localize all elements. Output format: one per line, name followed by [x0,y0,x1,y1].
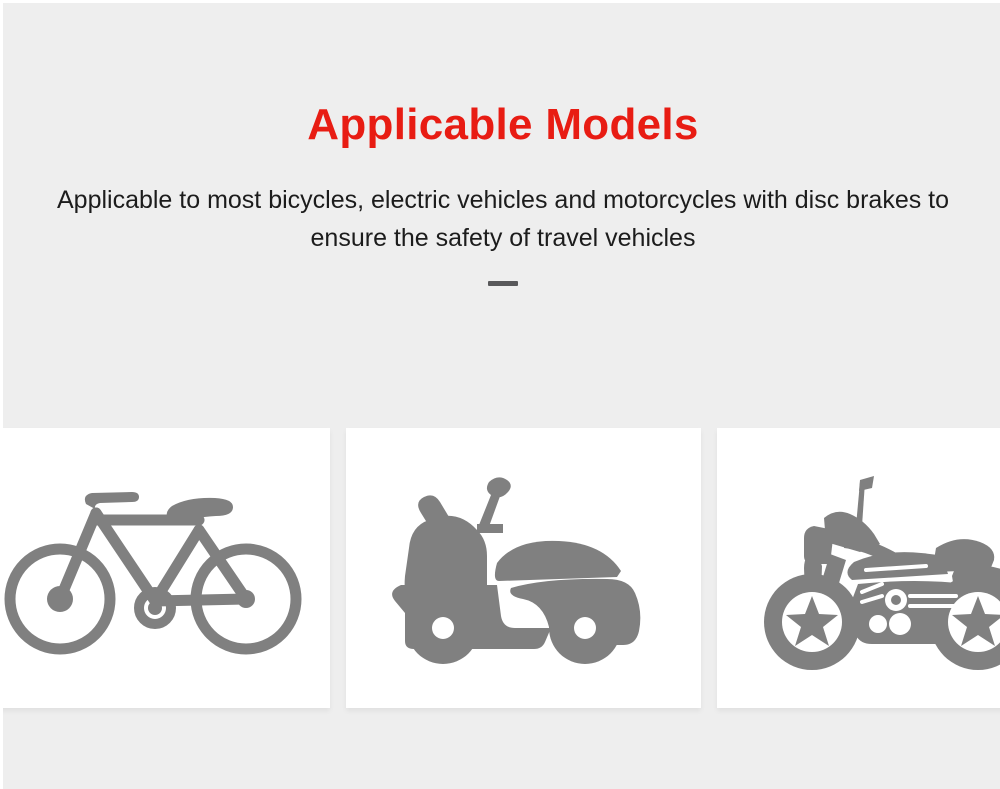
motorcycle-icon [750,466,1000,671]
section-divider [488,281,518,286]
page-subtitle: Applicable to most bicycles, electric ve… [38,151,968,257]
model-card-row [0,428,1000,708]
model-card-motorcycle [717,428,1000,708]
page-title: Applicable Models [3,99,1000,151]
applicable-models-banner: Applicable Models Applicable to most bic… [0,0,1000,789]
model-card-scooter [346,428,701,708]
divider-wrapper [3,257,1000,286]
bicycle-icon [3,468,303,668]
header-block: Applicable Models Applicable to most bic… [3,3,1000,286]
model-card-bicycle [0,428,330,708]
scooter-icon [389,468,659,668]
